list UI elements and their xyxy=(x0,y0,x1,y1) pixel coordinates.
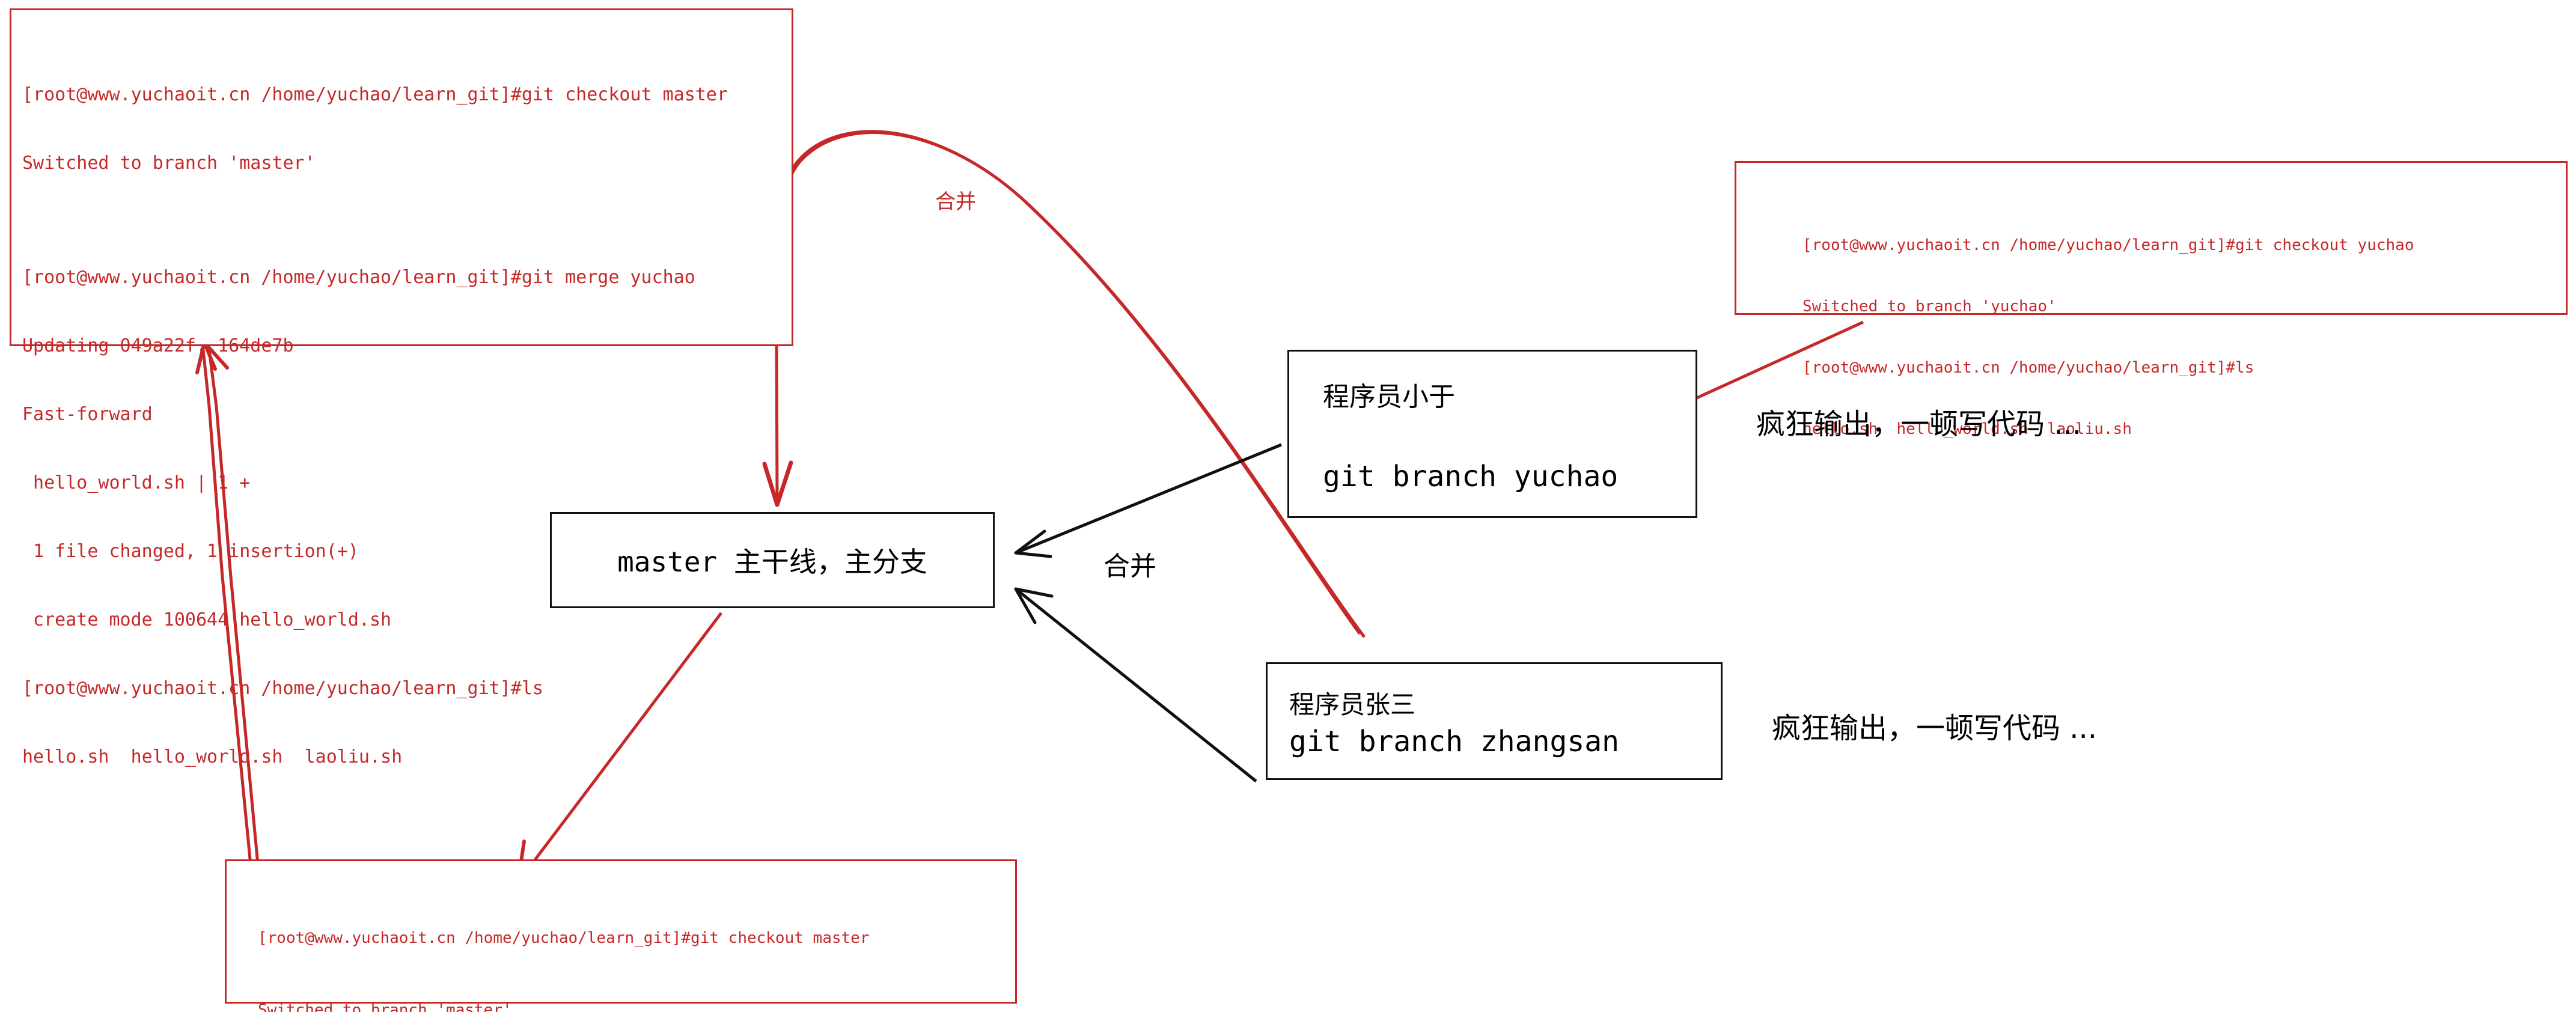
label-merge-red: 合并 xyxy=(935,185,976,215)
node-command-dev-zhangsan: git branch zhangsan xyxy=(1289,725,1721,758)
node-title-master: master 主干线，主分支 xyxy=(617,540,927,580)
terminal-line: [root@www.yuchaoit.cn /home/yuchao/learn… xyxy=(22,677,728,700)
terminal-line: hello_world.sh | 1 + xyxy=(22,472,728,495)
terminal-line: hello.sh hello_world.sh laoliu.sh xyxy=(22,746,728,769)
terminal-line: [root@www.yuchaoit.cn /home/yuchao/learn… xyxy=(22,84,728,106)
terminal-line: Fast-forward xyxy=(22,403,728,426)
arrow-dev-yuchao-to-master xyxy=(1016,445,1281,553)
terminal-box-master-merge: [root@www.yuchaoit.cn /home/yuchao/learn… xyxy=(10,8,793,346)
label-merge-black: 合并 xyxy=(1103,544,1156,583)
terminal-line: create mode 100644 hello_world.sh xyxy=(22,609,728,632)
node-box-dev-yuchao[interactable]: 程序员小于 git branch yuchao xyxy=(1287,350,1697,518)
arrow-dev-zhangsan-to-master xyxy=(1016,589,1256,781)
terminal-line: Switched to branch 'master' xyxy=(258,998,869,1012)
label-note-yuchao: 疯狂输出，一顿写代码 ... xyxy=(1756,400,2081,442)
arrow-dev-yuchao-to-master-head xyxy=(1016,531,1051,556)
arrow-dev-zhangsan-to-master-head xyxy=(1016,589,1052,623)
label-note-zhangsan: 疯狂输出，一顿写代码 ... xyxy=(1772,704,2097,746)
node-box-master[interactable]: master 主干线，主分支 xyxy=(550,512,995,608)
terminal-line: [root@www.yuchaoit.cn /home/yuchao/learn… xyxy=(22,266,728,289)
terminal-text-master-merge: [root@www.yuchaoit.cn /home/yuchao/learn… xyxy=(22,38,728,814)
terminal-line: [root@www.yuchaoit.cn /home/yuchao/learn… xyxy=(258,926,869,950)
terminal-line: Switched to branch 'yuchao' xyxy=(1802,296,2414,317)
node-box-dev-zhangsan[interactable]: 程序员张三 git branch zhangsan xyxy=(1266,662,1723,780)
terminal-line: [root@www.yuchaoit.cn /home/yuchao/learn… xyxy=(1802,235,2414,255)
terminal-text-master-before-merge: [root@www.yuchaoit.cn /home/yuchao/learn… xyxy=(258,878,869,1012)
node-command-dev-yuchao: git branch yuchao xyxy=(1323,460,1695,493)
terminal-line: Switched to branch 'master' xyxy=(22,152,728,175)
node-title-dev-yuchao: 程序员小于 xyxy=(1323,375,1695,413)
diagram-canvas: [root@www.yuchaoit.cn /home/yuchao/learn… xyxy=(0,0,2576,1012)
node-title-dev-zhangsan: 程序员张三 xyxy=(1289,684,1721,721)
terminal-line: Updating 049a22f..164de7b xyxy=(22,335,728,358)
terminal-box-yuchao-branch: [root@www.yuchaoit.cn /home/yuchao/learn… xyxy=(1735,161,2568,315)
arrow-red-down-to-master-shaft xyxy=(777,337,777,498)
terminal-box-master-before-merge: [root@www.yuchaoit.cn /home/yuchao/learn… xyxy=(225,859,1017,1004)
terminal-line: [root@www.yuchaoit.cn /home/yuchao/learn… xyxy=(1802,358,2414,378)
arrow-red-down-to-master-head xyxy=(765,463,791,505)
